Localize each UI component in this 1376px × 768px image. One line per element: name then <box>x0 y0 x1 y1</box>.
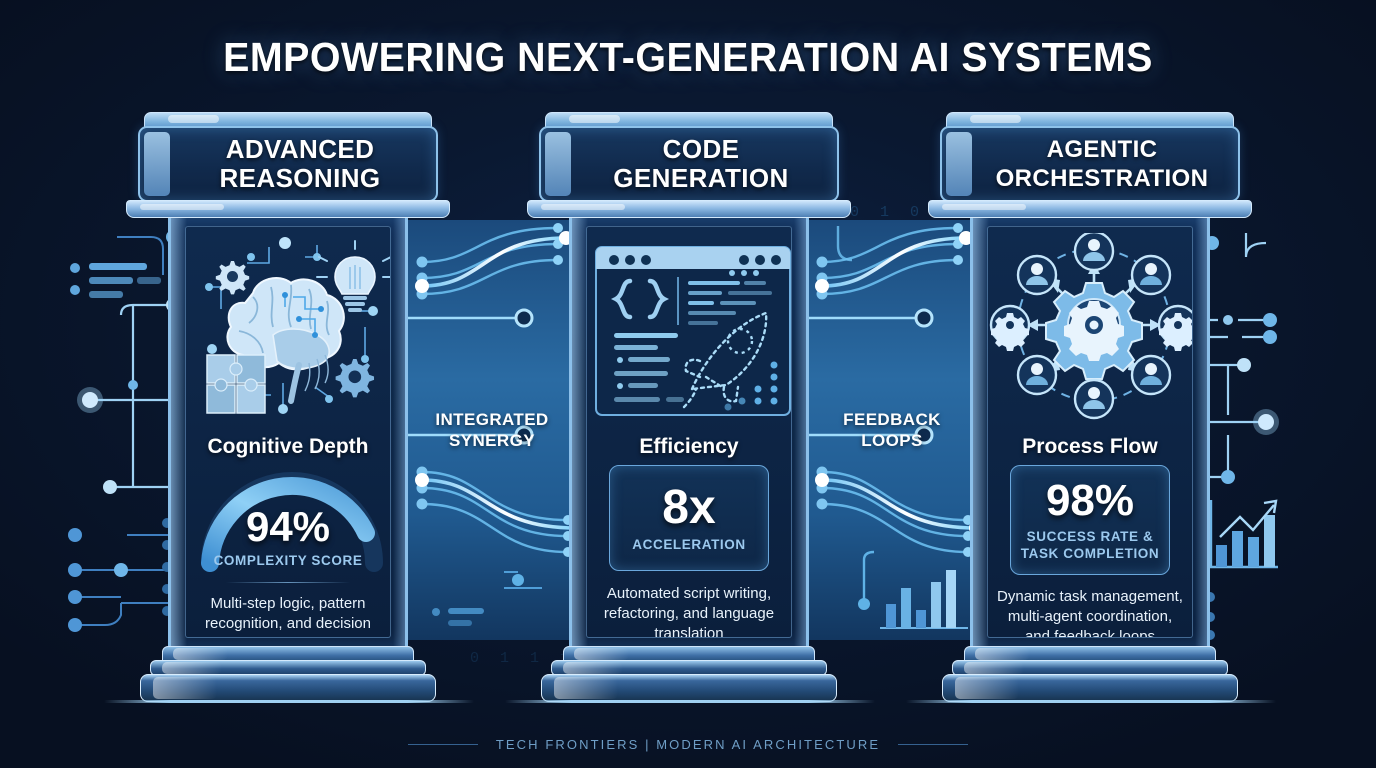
pillar-description: Automated script writing, refactoring, a… <box>595 584 783 638</box>
agent-node <box>1075 380 1113 418</box>
capital-shelf <box>928 200 1252 218</box>
pillar-shaft: Process Flow 98% SUCCESS RATE & TASK COM… <box>970 218 1210 646</box>
infographic-canvas: 1 0 1 1 0 1 0 1 0 0 1 0 1 1 0 1 0 1 0 0 … <box>0 0 1376 768</box>
brain-circuit-icon <box>187 231 391 416</box>
pillar-title: ADVANCED REASONING <box>174 135 426 193</box>
pillar-shaft: Cognitive Depth 94% <box>168 218 408 646</box>
ground-line <box>505 700 875 703</box>
connector-label-line2: SYNERGY <box>449 431 535 450</box>
metric-card: 98% SUCCESS RATE & TASK COMPLETION <box>1010 465 1170 575</box>
agent-node <box>1132 256 1170 294</box>
agent-network-gear-icon <box>989 233 1193 423</box>
metric-value: 8x <box>610 480 768 535</box>
gear-icon <box>1046 283 1142 379</box>
pillar-base-bottom <box>541 674 837 702</box>
metric-title: Efficiency <box>587 435 791 459</box>
pillar-description: Dynamic task management, multi-agent coo… <box>996 587 1184 638</box>
footer: TECH FRONTIERS | MODERN AI ARCHITECTURE <box>0 737 1376 752</box>
gear-icon <box>216 261 249 294</box>
connector-feedback-loops: FEEDBACK LOOPS <box>806 220 978 640</box>
pillar-shaft: Efficiency 8x ACCELERATION Automated scr… <box>569 218 809 646</box>
page-title: EMPOWERING NEXT-GENERATION AI SYSTEMS <box>28 34 1349 81</box>
divider <box>226 582 350 583</box>
pillar-description: Multi-step logic, pattern recognition, a… <box>194 594 382 638</box>
pillar-title-line1: CODE <box>663 134 740 164</box>
metric-value: 94% <box>186 503 390 551</box>
agent-node <box>1075 233 1113 270</box>
mini-bar-chart-icon <box>880 570 968 628</box>
metric-value: 98% <box>1011 476 1169 526</box>
pillar-content: Efficiency 8x ACCELERATION Automated scr… <box>586 226 792 638</box>
connector-label-line1: FEEDBACK <box>843 410 941 429</box>
pillar-title: CODE GENERATION <box>575 135 827 193</box>
footer-rule-right <box>898 744 968 745</box>
pillar-base-bottom <box>140 674 436 702</box>
agent-node <box>1018 356 1056 394</box>
gear-node <box>1159 306 1193 351</box>
pillar-title: AGENTIC ORCHESTRATION <box>976 135 1228 193</box>
metric-label-line2: TASK COMPLETION <box>1021 546 1160 561</box>
gear-icon <box>336 359 374 397</box>
agent-node <box>1018 256 1056 294</box>
gear-node <box>991 306 1029 351</box>
pillar-title-line1: ADVANCED <box>226 134 375 164</box>
connector-label: FEEDBACK LOOPS <box>806 409 978 451</box>
pillar-capital: CODE GENERATION <box>539 112 839 218</box>
capital-body: ADVANCED REASONING <box>138 126 438 202</box>
pillar-base-bottom <box>942 674 1238 702</box>
connector-label-line1: INTEGRATED <box>435 410 548 429</box>
connector-integrated-synergy: INTEGRATED SYNERGY <box>406 220 578 640</box>
puzzle-icon <box>207 355 265 413</box>
metric-title: Process Flow <box>988 435 1192 459</box>
agent-node <box>1132 356 1170 394</box>
metric-label: ACCELERATION <box>610 536 768 553</box>
ground-line <box>906 700 1276 703</box>
metric-label: COMPLEXITY SCORE <box>186 552 390 569</box>
metric-title: Cognitive Depth <box>186 435 390 459</box>
pillar-title-line2: ORCHESTRATION <box>996 165 1209 192</box>
footer-text: TECH FRONTIERS | MODERN AI ARCHITECTURE <box>496 737 880 752</box>
capital-shelf <box>527 200 851 218</box>
capital-body: AGENTIC ORCHESTRATION <box>940 126 1240 202</box>
code-window-rocket-icon <box>588 229 792 419</box>
pillar-content: Cognitive Depth 94% <box>185 226 391 638</box>
pillar-capital: ADVANCED REASONING <box>138 112 438 218</box>
connector-label: INTEGRATED SYNERGY <box>406 409 578 451</box>
metric-label-line1: SUCCESS RATE & <box>1027 529 1154 544</box>
footer-rule-left <box>408 744 478 745</box>
capital-body: CODE GENERATION <box>539 126 839 202</box>
ground-line <box>104 700 474 703</box>
pillar-content: Process Flow 98% SUCCESS RATE & TASK COM… <box>987 226 1193 638</box>
pillar-title-line1: AGENTIC <box>1047 136 1158 163</box>
metric-card: 8x ACCELERATION <box>609 465 769 571</box>
pillar-capital: AGENTIC ORCHESTRATION <box>940 112 1240 218</box>
pillar-title-line2: REASONING <box>219 163 380 193</box>
connector-label-line2: LOOPS <box>861 431 923 450</box>
metric-label: SUCCESS RATE & TASK COMPLETION <box>1011 528 1169 562</box>
pillar-title-line2: GENERATION <box>613 163 788 193</box>
capital-shelf <box>126 200 450 218</box>
